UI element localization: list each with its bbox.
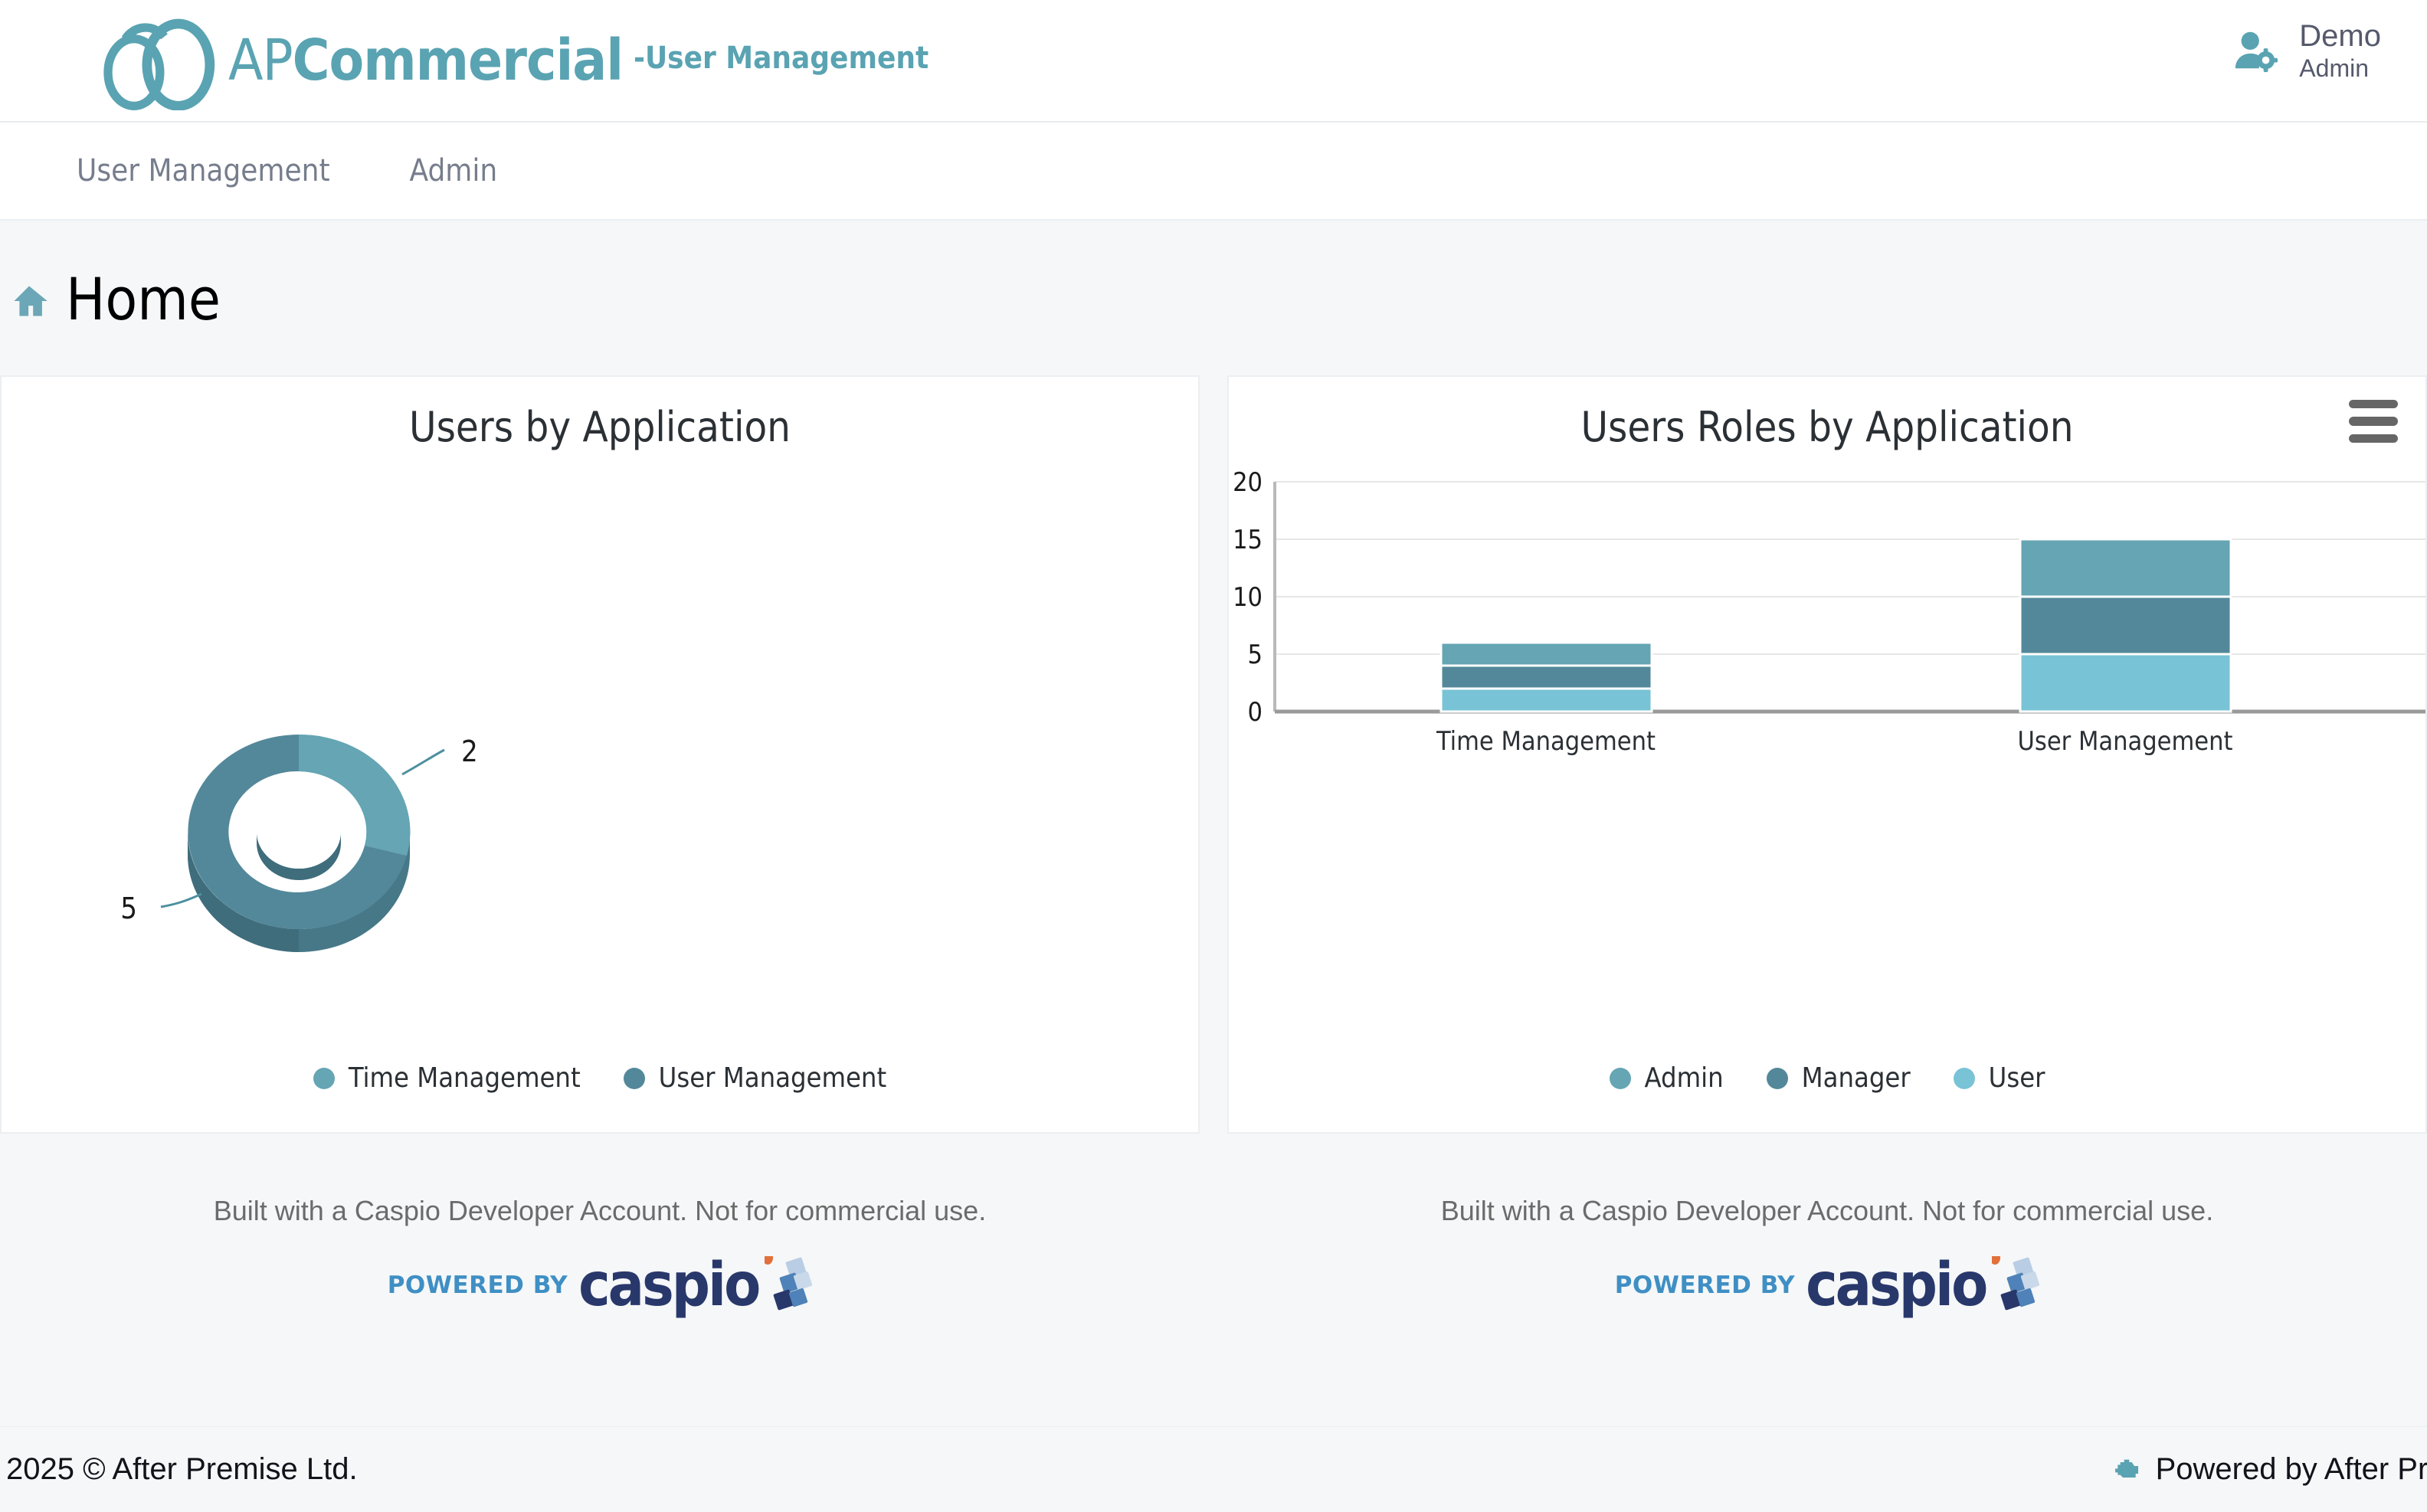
bar-segment-user-user-management[interactable] [2020, 654, 2231, 712]
donut-chart: 2 5 [2, 451, 1198, 1033]
caspio-attribution-right: Built with a Caspio Developer Account. N… [1227, 1164, 2427, 1394]
caspio-note: Built with a Caspio Developer Account. N… [1441, 1195, 2213, 1227]
bar-gridlines [1275, 482, 2425, 654]
bar-chart: 0 5 10 15 20 [1229, 451, 2425, 1033]
bar-x-tick-labels: Time Management User Management [1436, 726, 2232, 757]
donut-legend: Time Management User Management [2, 1062, 1198, 1094]
y-tick-10: 10 [1233, 582, 1263, 613]
account-info: Demo Admin [2299, 18, 2381, 83]
hamburger-line [2349, 417, 2398, 425]
account-menu[interactable]: Demo Admin [2232, 18, 2381, 83]
y-tick-5: 5 [1248, 640, 1263, 670]
donut-leader-line-user-management [161, 894, 201, 907]
bar-segment-user-time-management[interactable] [1441, 689, 1652, 712]
y-tick-15: 15 [1233, 525, 1263, 555]
brand-name-light: AP [228, 28, 293, 93]
card-user-roles-by-application: Users Roles by Application [1227, 375, 2427, 1134]
home-icon[interactable] [9, 281, 49, 321]
card-users-by-application: Users by Application [0, 375, 1200, 1134]
legend-item-manager[interactable]: Manager [1767, 1062, 1911, 1094]
hamburger-menu-icon[interactable] [2349, 400, 2398, 443]
brand-name: APCommercial [228, 28, 623, 93]
legend-label-admin: Admin [1645, 1062, 1724, 1094]
legend-label-user: User [1989, 1062, 2045, 1094]
legend-swatch-admin [1610, 1068, 1631, 1089]
account-role: Admin [2299, 54, 2369, 83]
legend-item-user-management[interactable]: User Management [624, 1062, 887, 1094]
brand-name-bold: Commercial [293, 28, 623, 93]
y-tick-0: 0 [1248, 697, 1263, 728]
brand-subtitle: -User Management [634, 41, 929, 80]
y-tick-20: 20 [1233, 467, 1263, 498]
legend-item-admin[interactable]: Admin [1610, 1062, 1724, 1094]
caspio-powered-by-label: POWERED BY [1615, 1271, 1795, 1299]
app-header: APCommercial -User Management Demo Admin [0, 0, 2427, 123]
legend-swatch-manager [1767, 1068, 1788, 1089]
x-tick-time-management: Time Management [1436, 726, 1656, 757]
caspio-squares-icon [1992, 1256, 2039, 1314]
caspio-logo[interactable]: POWERED BY caspio [388, 1256, 813, 1314]
legend-item-time-management[interactable]: Time Management [313, 1062, 581, 1094]
donut-chart-svg[interactable]: 2 5 [2, 451, 1198, 1033]
caspio-powered-by-label: POWERED BY [388, 1271, 568, 1299]
bar-group-time-management [1441, 643, 1652, 712]
dashboard-cards: Users by Application [0, 375, 2427, 1141]
caspio-attribution-row: Built with a Caspio Developer Account. N… [0, 1164, 2427, 1394]
caspio-note: Built with a Caspio Developer Account. N… [214, 1195, 986, 1227]
account-name: Demo [2299, 18, 2381, 54]
caspio-attribution-left: Built with a Caspio Developer Account. N… [0, 1164, 1200, 1394]
chart-title-bar: Users Roles by Application [1229, 377, 2425, 451]
page-title: Home [66, 265, 221, 333]
bar-group-user-management [2020, 539, 2231, 712]
bar-chart-svg[interactable]: 0 5 10 15 20 [1229, 451, 2425, 1033]
legend-item-user[interactable]: User [1954, 1062, 2045, 1094]
nav-item-user-management[interactable]: User Management [37, 153, 370, 188]
bar-y-tick-labels: 0 5 10 15 20 [1233, 467, 1263, 728]
bar-segment-manager-time-management[interactable] [1441, 666, 1652, 689]
donut-label-time-management: 2 [461, 735, 478, 768]
main-nav: User Management Admin [0, 123, 2427, 221]
infinity-loops-logo-icon [92, 11, 224, 110]
caspio-squares-icon [765, 1256, 812, 1314]
brand-logo-block[interactable]: APCommercial -User Management [92, 11, 929, 110]
footer-powered-by[interactable]: Powered by After Premise [2111, 1452, 2427, 1487]
breadcrumb: Home [0, 222, 2427, 375]
app-page: APCommercial -User Management Demo Admin [0, 0, 2427, 1512]
hamburger-line [2349, 434, 2398, 443]
legend-label-time-management: Time Management [349, 1062, 581, 1094]
legend-swatch-user-management [624, 1068, 645, 1089]
bar-segment-admin-user-management[interactable] [2020, 539, 2231, 597]
bar-segment-admin-time-management[interactable] [1441, 643, 1652, 666]
donut-leader-line-time-management [402, 750, 444, 774]
caspio-logo[interactable]: POWERED BY caspio [1615, 1256, 2040, 1314]
app-footer: 2025 © After Premise Ltd. Powered by Aft… [0, 1426, 2427, 1512]
hamburger-line [2349, 400, 2398, 408]
donut-label-user-management: 5 [120, 892, 137, 925]
caspio-wordmark: caspio [578, 1262, 758, 1309]
x-tick-user-management: User Management [2018, 726, 2233, 757]
bar-segment-manager-user-management[interactable] [2020, 597, 2231, 654]
chart-title-donut: Users by Application [2, 377, 1198, 451]
engine-icon [2111, 1455, 2142, 1485]
legend-label-manager: Manager [1802, 1062, 1911, 1094]
donut-hole [257, 795, 341, 869]
footer-copyright: 2025 © After Premise Ltd. [6, 1452, 358, 1487]
legend-swatch-user [1954, 1068, 1975, 1089]
nav-item-admin[interactable]: Admin [370, 153, 538, 188]
footer-powered-by-label: Powered by After Premise [2156, 1452, 2427, 1487]
bar-legend: Admin Manager User [1229, 1062, 2425, 1094]
caspio-wordmark: caspio [1806, 1262, 1986, 1309]
user-gear-icon [2232, 27, 2279, 74]
legend-label-user-management: User Management [659, 1062, 887, 1094]
legend-swatch-time-management [313, 1068, 335, 1089]
